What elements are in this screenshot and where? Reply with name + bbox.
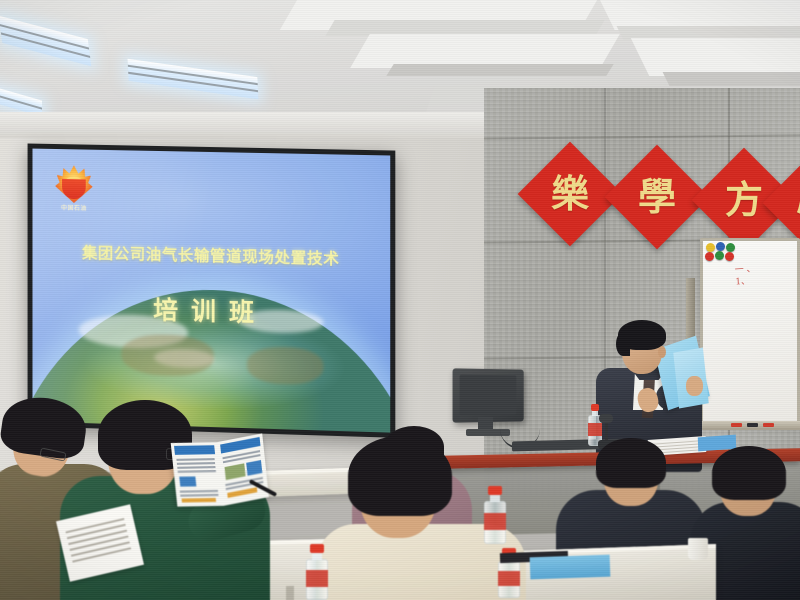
whiteboard-marker-tray bbox=[701, 421, 800, 430]
ceiling-soffit bbox=[0, 112, 492, 138]
presenter-ear bbox=[658, 346, 666, 358]
microphone-head[interactable] bbox=[599, 414, 613, 423]
paper-cup[interactable] bbox=[688, 538, 708, 560]
presenter-hand-right bbox=[686, 376, 703, 396]
magnet-red-2[interactable] bbox=[725, 252, 734, 261]
magnet-red[interactable] bbox=[705, 252, 714, 261]
ceiling-light-fixture bbox=[0, 16, 91, 67]
magnet-green-2[interactable] bbox=[715, 251, 724, 260]
marker-red[interactable] bbox=[731, 423, 742, 427]
cnpc-logo-caption: 中国石油 bbox=[52, 203, 95, 213]
marker-red-2[interactable] bbox=[763, 423, 774, 427]
whiteboard-handwriting: 一 、 1、 bbox=[734, 261, 793, 288]
desk-blue-document[interactable] bbox=[530, 555, 611, 580]
cnpc-logo: 中国石油 bbox=[52, 165, 95, 218]
presenter-hair-side bbox=[616, 332, 630, 356]
monitor-panel bbox=[453, 368, 524, 422]
ceiling-light-fixture bbox=[128, 59, 259, 100]
water-bottle-centre[interactable] bbox=[484, 486, 506, 544]
projection-screen: 中国石油 集团公司油气长输管道现场处置技术 培训班 bbox=[28, 143, 396, 437]
marker-black[interactable] bbox=[747, 423, 758, 427]
water-bottle-left[interactable] bbox=[306, 544, 328, 600]
plaque-char: 心 bbox=[778, 166, 800, 240]
cnpc-sun-icon bbox=[55, 165, 93, 202]
photograph-scene: 樂 學 方 心 中国石油 bbox=[0, 0, 800, 600]
magnet-blue[interactable] bbox=[716, 242, 725, 251]
presentation-slide: 中国石油 集团公司油气长输管道现场处置技术 培训班 bbox=[32, 149, 390, 433]
whiteboard[interactable]: 一 、 1、 bbox=[700, 238, 800, 424]
magnet-green[interactable] bbox=[726, 243, 735, 252]
plaque-char: 樂 bbox=[533, 157, 607, 231]
plaque-char: 學 bbox=[620, 160, 694, 234]
magnet-yellow[interactable] bbox=[706, 243, 715, 252]
